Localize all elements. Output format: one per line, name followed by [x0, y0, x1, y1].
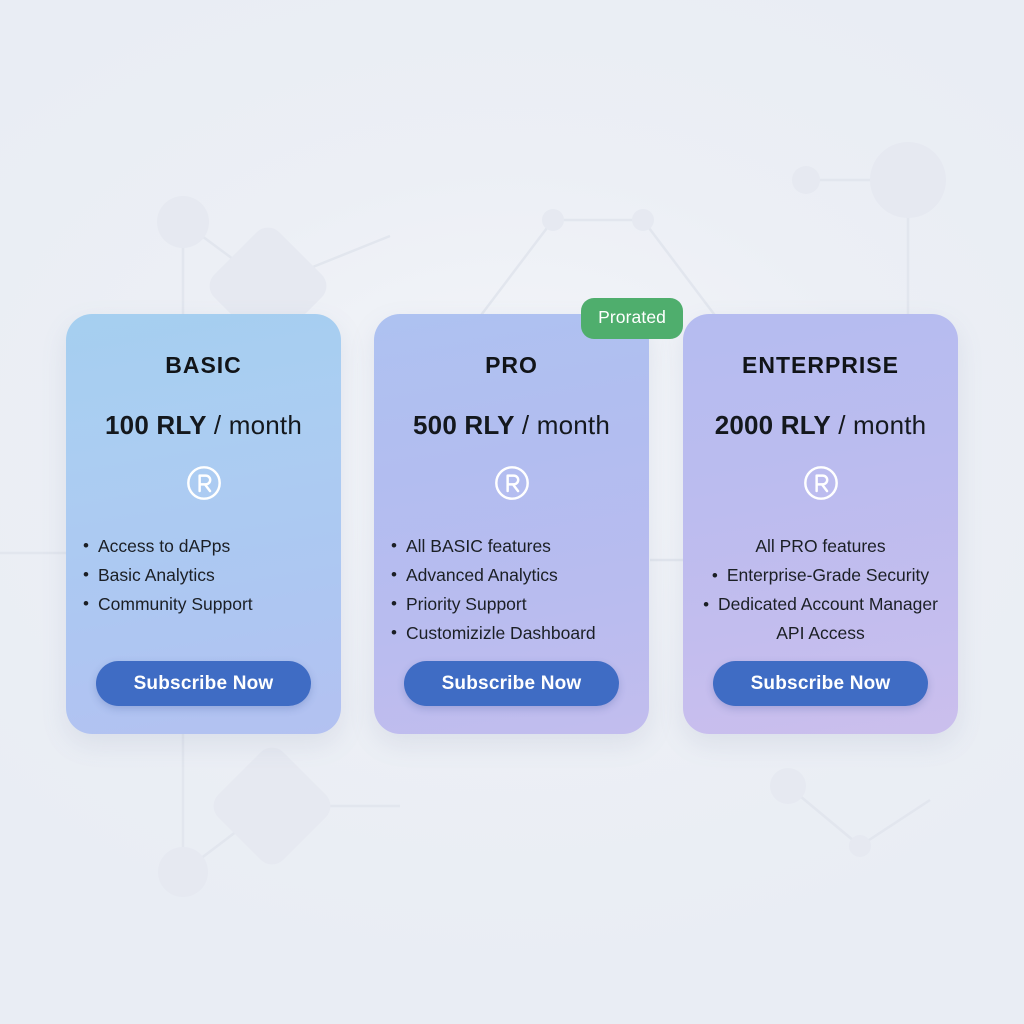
rly-token-icon: [185, 464, 223, 502]
feature-item: Advanced Analytics: [406, 561, 631, 590]
rly-token-icon: [802, 464, 840, 502]
status-badge-prorated: Prorated: [581, 298, 683, 339]
feature-list: All PRO features Enterprise-Grade Securi…: [683, 532, 958, 648]
subscribe-button[interactable]: Subscribe Now: [713, 661, 928, 706]
feature-item: Priority Support: [406, 590, 631, 619]
plan-price: 2000 RLY / month: [683, 410, 958, 441]
feature-item: Access to dAPps: [98, 532, 323, 561]
pricing-card-enterprise[interactable]: ENTERPRISE 2000 RLY / month All PRO feat…: [683, 314, 958, 734]
feature-item: All PRO features: [683, 532, 958, 561]
pricing-card-pro[interactable]: Prorated PRO 500 RLY / month All BASIC f…: [374, 314, 649, 734]
pricing-page: BASIC 100 RLY / month Access to dAPps Ba…: [0, 0, 1024, 1024]
feature-item: Customizizle Dashboard: [406, 619, 631, 648]
feature-item: Enterprise-Grade Security: [683, 561, 958, 590]
plan-name: BASIC: [66, 352, 341, 379]
plan-price-period: / month: [838, 410, 926, 440]
plan-price-period: / month: [522, 410, 610, 440]
feature-item: Basic Analytics: [98, 561, 323, 590]
plan-price-period: / month: [214, 410, 302, 440]
feature-item: API Access: [683, 619, 958, 648]
feature-item: Community Support: [98, 590, 323, 619]
plan-price: 500 RLY / month: [374, 410, 649, 441]
pricing-plans-row: BASIC 100 RLY / month Access to dAPps Ba…: [0, 0, 1024, 1024]
feature-list: All BASIC features Advanced Analytics Pr…: [374, 532, 649, 648]
feature-list: Access to dAPps Basic Analytics Communit…: [66, 532, 341, 619]
plan-name: PRO: [374, 352, 649, 379]
plan-name: ENTERPRISE: [683, 352, 958, 379]
subscribe-button[interactable]: Subscribe Now: [404, 661, 619, 706]
rly-token-icon: [493, 464, 531, 502]
plan-price-amount: 100 RLY: [105, 410, 207, 440]
plan-price-amount: 500 RLY: [413, 410, 515, 440]
pricing-card-basic[interactable]: BASIC 100 RLY / month Access to dAPps Ba…: [66, 314, 341, 734]
plan-price: 100 RLY / month: [66, 410, 341, 441]
plan-price-amount: 2000 RLY: [715, 410, 831, 440]
feature-item: All BASIC features: [406, 532, 631, 561]
subscribe-button[interactable]: Subscribe Now: [96, 661, 311, 706]
feature-item: Dedicated Account Manager: [683, 590, 958, 619]
